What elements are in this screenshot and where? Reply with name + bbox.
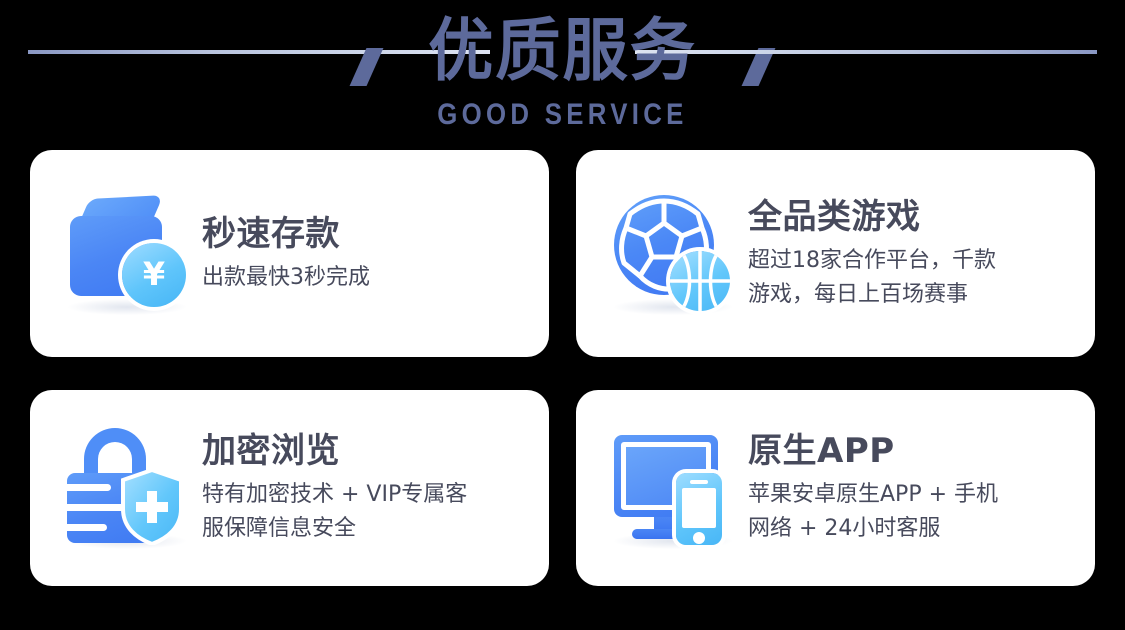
page-subtitle: GOOD SERVICE — [79, 98, 1047, 132]
feature-card-grid: ¥ 秒速存款 出款最快3秒完成 — [30, 150, 1095, 590]
lock-dash-icon — [67, 524, 107, 531]
feature-card-instant-deposit[interactable]: ¥ 秒速存款 出款最快3秒完成 — [30, 150, 549, 357]
banner-header: 优质服务 GOOD SERVICE — [0, 0, 1125, 148]
good-service-banner: 优质服务 GOOD SERVICE ¥ 秒速存款 出款最快3秒完成 — [0, 0, 1125, 630]
lock-shield-icon — [62, 425, 194, 551]
basketball-icon — [670, 251, 730, 311]
card-title: 原生APP — [748, 430, 1077, 472]
smartphone-icon — [676, 473, 722, 545]
feature-card-native-app[interactable]: 原生APP 苹果安卓原生APP + 手机网络 + 24小时客服 — [576, 390, 1095, 586]
lock-dash-icon — [67, 484, 111, 491]
wallet-yen-icon: ¥ — [62, 191, 194, 317]
card-title: 加密浏览 — [202, 430, 531, 472]
feature-card-encrypted-browsing[interactable]: 加密浏览 特有加密技术 + VIP专属客服保障信息安全 — [30, 390, 549, 586]
lock-dash-icon — [67, 504, 127, 511]
phone-speaker — [690, 480, 708, 484]
yen-coin-icon: ¥ — [122, 243, 186, 307]
page-title: 优质服务 — [23, 12, 1103, 92]
card-subtitle: 出款最快3秒完成 — [202, 261, 531, 295]
card-subtitle: 苹果安卓原生APP + 手机网络 + 24小时客服 — [748, 478, 1077, 546]
card-subtitle: 超过18家合作平台，千款游戏，每日上百场赛事 — [748, 244, 1077, 312]
card-title: 全品类游戏 — [748, 196, 1077, 238]
phone-home-button — [693, 532, 705, 544]
card-title: 秒速存款 — [202, 213, 531, 255]
card-subtitle: 特有加密技术 + VIP专属客服保障信息安全 — [202, 478, 531, 546]
feature-card-all-games[interactable]: 全品类游戏 超过18家合作平台，千款游戏，每日上百场赛事 — [576, 150, 1095, 357]
card-text-block: 原生APP 苹果安卓原生APP + 手机网络 + 24小时客服 — [740, 430, 1077, 546]
soccer-basketball-icon — [608, 191, 740, 317]
monitor-phone-icon — [608, 425, 740, 551]
phone-screen — [682, 488, 716, 528]
yen-symbol: ¥ — [143, 258, 165, 290]
card-text-block: 加密浏览 特有加密技术 + VIP专属客服保障信息安全 — [194, 430, 531, 546]
shield-cross-icon — [119, 469, 185, 545]
card-text-block: 全品类游戏 超过18家合作平台，千款游戏，每日上百场赛事 — [740, 196, 1077, 312]
card-text-block: 秒速存款 出款最快3秒完成 — [194, 213, 531, 295]
